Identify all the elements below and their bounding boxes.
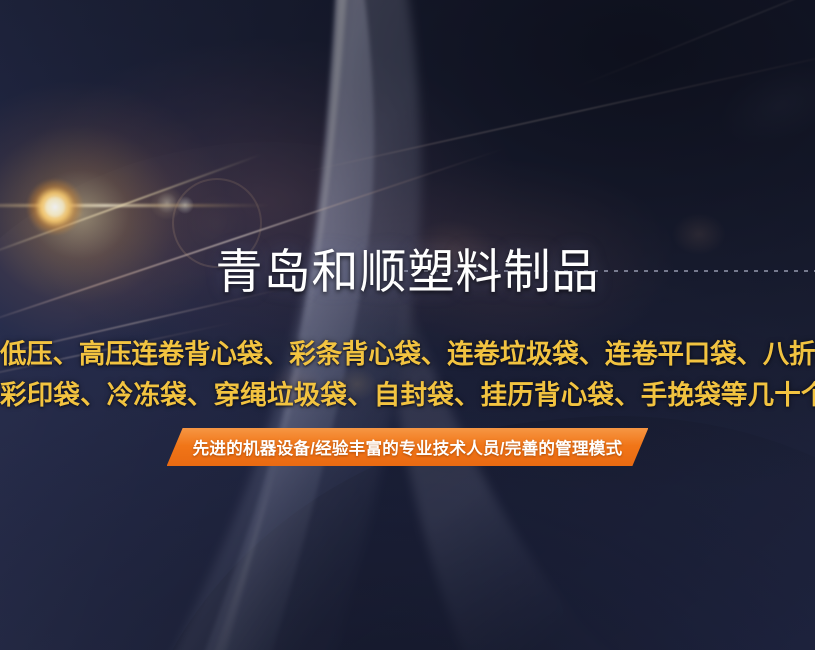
banner-title: 青岛和顺塑料制品 — [0, 248, 815, 295]
product-list-line-2: 彩印袋、冷冻袋、穿绳垃圾袋、自封袋、挂历背心袋、手挽袋等几十个品种 — [0, 382, 815, 409]
promo-banner: 青岛和顺塑料制品 低压、高压连卷背心袋、彩条背心袋、连卷垃圾袋、连卷平口袋、八折… — [0, 0, 815, 650]
tagline-container: 先进的机器设备/经验丰富的专业技术人员/完善的管理模式 — [0, 428, 815, 466]
tagline-badge: 先进的机器设备/经验丰富的专业技术人员/完善的管理模式 — [167, 428, 649, 466]
banner-content: 青岛和顺塑料制品 低压、高压连卷背心袋、彩条背心袋、连卷垃圾袋、连卷平口袋、八折… — [0, 0, 815, 650]
product-list-line-1: 低压、高压连卷背心袋、彩条背心袋、连卷垃圾袋、连卷平口袋、八折垃圾袋、 — [0, 341, 815, 368]
